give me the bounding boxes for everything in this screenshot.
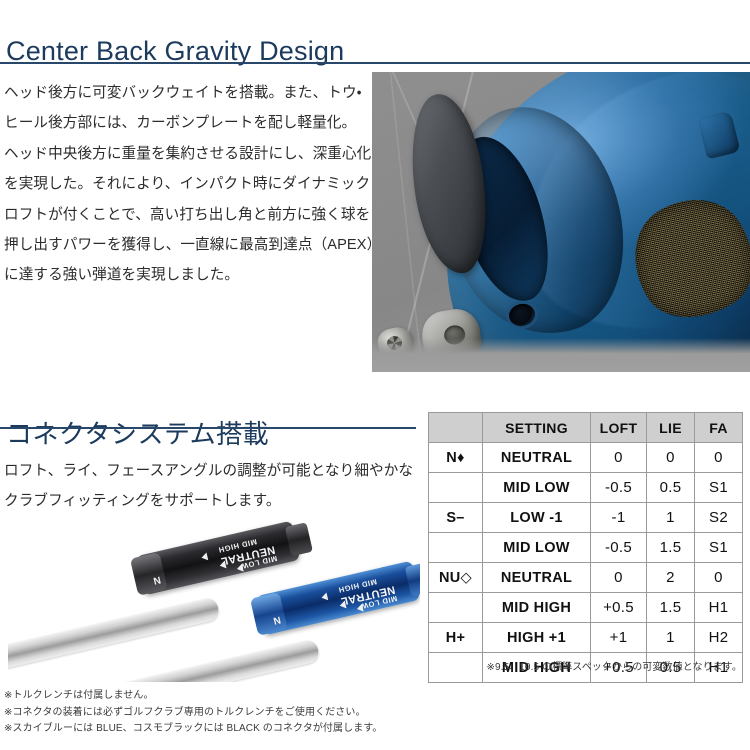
table-cell-setting: MID LOW [483,533,591,563]
render-floor [372,338,750,372]
table-cell-fa: S2 [695,503,743,533]
product-render-driver-head [372,72,750,372]
connector-sleeve-black: N MID HIGH NEUTRAL MID LOW [136,521,301,596]
table-cell-loft: 0 [591,563,647,593]
table-cell-fa: H1 [695,593,743,623]
table-footnote: ※9.5、10.5 の標準スペックからの可変数値となります。 [428,658,742,673]
table-header-loft: LOFT [591,413,647,443]
sleeve-collar-black [130,552,168,596]
connector-settings-table: SETTING LOFT LIE FA N♦NEUTRAL000MID LOW-… [428,412,743,683]
sleeve-cap-blue [405,562,420,596]
table-row: MID LOW-0.51.5S1 [429,533,743,563]
table-cell-setting: MID LOW [483,473,591,503]
page-title-connector-system: コネクタシステム搭載 [6,414,269,451]
description-line: ヒール後方部には、カーボンプレートを配し軽量化。 [4,108,364,138]
title-divider-2 [0,427,416,429]
table-cell-lie: 2 [647,563,695,593]
description-line: ヘッド中央後方に重量を集約させる設計にし、深重心化 [4,139,364,169]
table-header-row: SETTING LOFT LIE FA [429,413,743,443]
description-line: に達する強い弾道を実現しました。 [4,260,364,290]
page-footnotes: ※トルクレンチは付属しません。 ※コネクタの装着には必ずゴルフクラブ専用のトルク… [4,688,424,738]
table-cell-lie: 1.5 [647,533,695,563]
description-line: ロフト、ライ、フェースアングルの調整が可能となり細やかな [4,456,414,486]
description-block-1: ヘッド後方に可変バックウェイトを搭載。また、トウ・ ヒール後方部には、カーボンプ… [4,78,364,291]
sleeve-arrow-icon [201,552,209,561]
table-cell-setting: HIGH +1 [483,623,591,653]
table-cell-code [429,533,483,563]
table-cell-lie: 1 [647,503,695,533]
shaft-blue [72,638,321,682]
table-cell-lie: 1.5 [647,593,695,623]
table-cell-loft: -0.5 [591,533,647,563]
table-cell-code: S– [429,503,483,533]
table-row: H+HIGH +1+11H2 [429,623,743,653]
table-cell-code: NU◇ [429,563,483,593]
sleeve-collar-blue [250,592,288,636]
table-row: N♦NEUTRAL000 [429,443,743,473]
connector-sleeve-blue: N MID HIGH NEUTRAL MID LOW [256,561,420,636]
sleeve-arrow-icon [321,592,329,601]
description-line: ヘッド後方に可変バックウェイトを搭載。また、トウ・ [4,78,364,108]
table-cell-setting: LOW -1 [483,503,591,533]
table-cell-setting: NEUTRAL [483,443,591,473]
table-cell-lie: 0.5 [647,473,695,503]
table-cell-lie: 0 [647,443,695,473]
table-cell-fa: S1 [695,473,743,503]
table-row: S–LOW -1-11S2 [429,503,743,533]
connector-sleeves-photo: N MID HIGH NEUTRAL MID LOW N MID HIGH NE… [8,510,420,682]
table-header-fa: FA [695,413,743,443]
sleeve-cap-black [285,522,313,556]
table-cell-lie: 1 [647,623,695,653]
description-line: を実現した。それにより、インパクト時にダイナミック [4,169,364,199]
page-root: Center Back Gravity Design ヘッド後方に可変バックウェ… [0,0,750,750]
table-header-code [429,413,483,443]
footnote-line: ※トルクレンチは付属しません。 [4,688,424,705]
table-cell-code [429,473,483,503]
table-cell-setting: NEUTRAL [483,563,591,593]
table-cell-loft: 0 [591,443,647,473]
description-block-2: ロフト、ライ、フェースアングルの調整が可能となり細やかな クラブフィッティングを… [4,456,414,516]
table-row: MID LOW-0.50.5S1 [429,473,743,503]
shaft-black [8,596,221,675]
table-cell-fa: 0 [695,443,743,473]
table-row: NU◇NEUTRAL020 [429,563,743,593]
table-cell-code: H+ [429,623,483,653]
table-cell-loft: +1 [591,623,647,653]
table-cell-code: N♦ [429,443,483,473]
table-cell-fa: S1 [695,533,743,563]
title-divider-1 [0,62,750,64]
description-line: ロフトが付くことで、高い打ち出し角と前方に強く球を [4,200,364,230]
table-cell-fa: 0 [695,563,743,593]
table-row: MID HIGH+0.51.5H1 [429,593,743,623]
table-cell-setting: MID HIGH [483,593,591,623]
table-cell-code [429,593,483,623]
footnote-line: ※スカイブルーには BLUE、コスモブラックには BLACK のコネクタが付属し… [4,721,424,738]
footnote-line: ※コネクタの装着には必ずゴルフクラブ専用のトルクレンチをご使用ください。 [4,705,424,722]
table-cell-loft: -1 [591,503,647,533]
description-line: 押し出すパワーを獲得し、一直線に最高到達点（APEX） [4,230,364,260]
table-cell-loft: +0.5 [591,593,647,623]
table-header-lie: LIE [647,413,695,443]
table-header-setting: SETTING [483,413,591,443]
table-cell-loft: -0.5 [591,473,647,503]
table-cell-fa: H2 [695,623,743,653]
